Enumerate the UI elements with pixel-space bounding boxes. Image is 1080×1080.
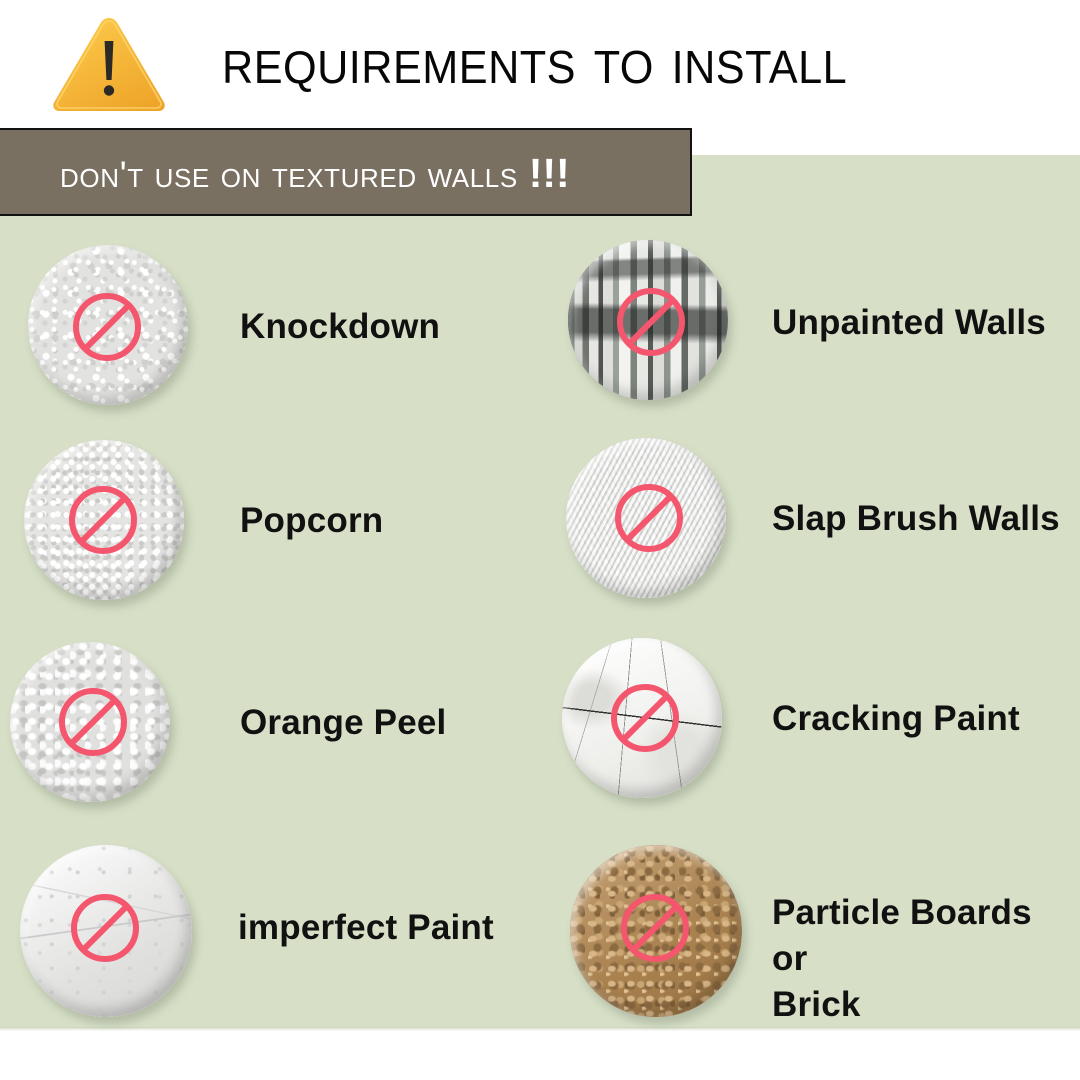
- list-item-label: Slap Brush Walls: [772, 496, 1072, 542]
- list-item-label: Popcorn: [240, 498, 520, 544]
- list-item-label: Particle Boards or Brick: [772, 890, 1072, 1028]
- list-item-label: Orange Peel: [240, 700, 540, 746]
- no-entry-icon: [608, 681, 682, 755]
- no-entry-icon: [66, 483, 140, 557]
- no-entry-icon: [56, 685, 130, 759]
- list-item-label: imperfect Paint: [238, 905, 558, 951]
- no-entry-icon: [68, 891, 142, 965]
- list-item-label: Cracking Paint: [772, 696, 1072, 742]
- no-entry-icon: [612, 481, 686, 555]
- no-entry-icon: [70, 290, 144, 364]
- page-header: Requirements to Install: [0, 0, 1080, 128]
- warning-triangle-icon: [46, 12, 172, 112]
- list-item-label: Unpainted Walls: [772, 300, 1072, 346]
- requirements-grid: Knockdown Unpainted Walls Popcorn: [0, 155, 1080, 1027]
- page-title: Requirements to Install: [222, 16, 847, 104]
- list-item-label: Knockdown: [240, 304, 520, 350]
- no-entry-icon: [618, 891, 692, 965]
- no-entry-icon: [614, 285, 688, 359]
